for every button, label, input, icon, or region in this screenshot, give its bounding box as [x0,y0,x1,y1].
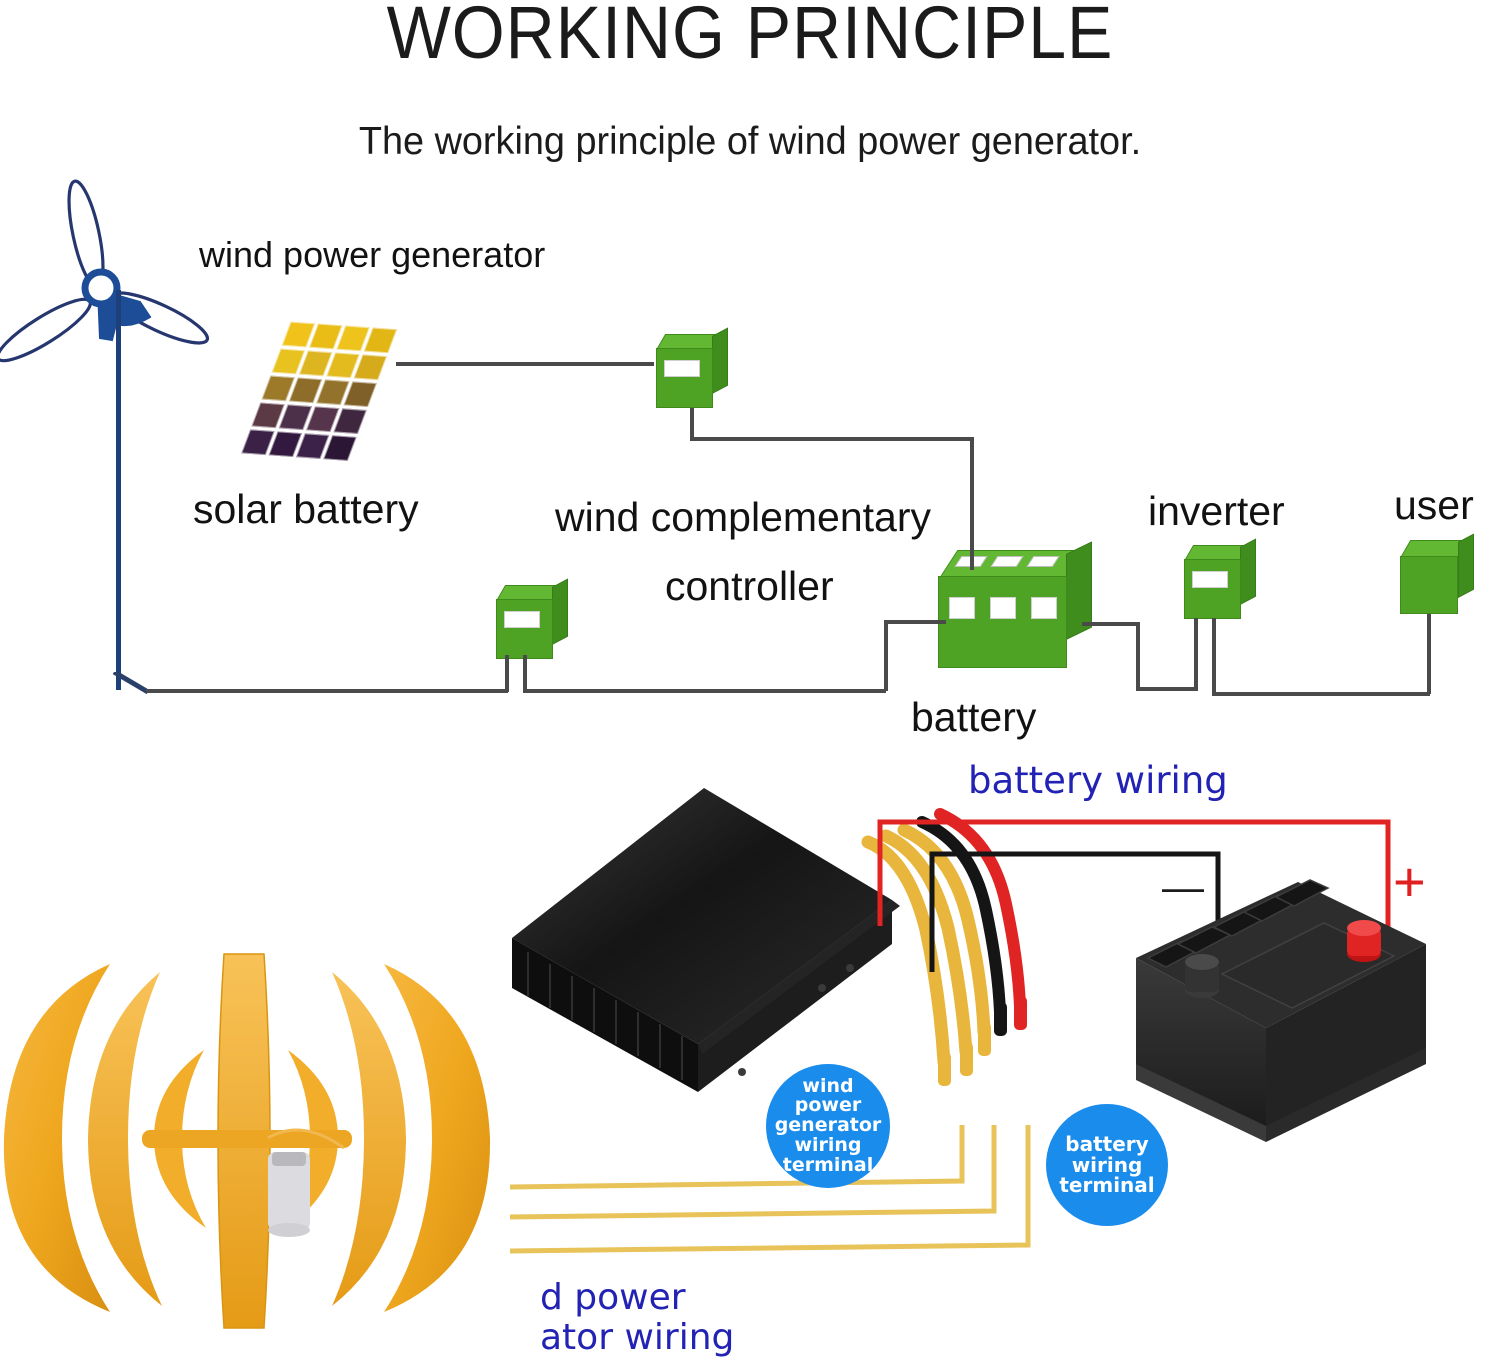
label-wind-complementary: wind complementary [555,496,931,539]
wire-controller-right [690,437,974,441]
callout-generator-terminal-text: wind power generator wiring terminal [775,1077,882,1176]
wire-inverter-drop [1136,622,1140,690]
green-box-icon-junction [488,585,570,663]
callout-battery-terminal-text: battery wiring terminal [1059,1134,1154,1196]
wire-user-drop [1427,614,1431,694]
vertical-axis-turbine-photo [0,938,497,1338]
wire-junction-down-a [505,655,509,692]
label-user: user [1394,484,1474,527]
label-generator-wiring: d power ator wiring [540,1278,734,1359]
wire-controller-to-battery [970,437,974,570]
negative-sign: — [1162,866,1204,908]
page-title: WORKING PRINCIPLE [60,0,1440,70]
car-battery-photo [1126,866,1436,1166]
label-battery-wiring: battery wiring [968,760,1228,801]
wire-controller-down [690,408,694,440]
callout-battery-terminal: battery wiring terminal [1046,1104,1168,1226]
label-inverter: inverter [1148,490,1285,533]
green-box-icon-controller [648,334,730,412]
wire-bus-into-battery [884,620,946,624]
turbine-pole [116,290,121,690]
label-controller: controller [665,565,834,608]
wire-junction-down-b [523,655,527,692]
positive-sign: + [1393,854,1426,910]
green-box-icon-inverter [1176,545,1258,623]
label-solar-battery: solar battery [193,488,419,531]
wire-bus-up-to-battery [884,620,888,691]
green-box-icon-user [1392,540,1474,618]
solar-panel-icon [236,322,417,476]
controller-box-photo [492,782,912,1112]
wire-inverter-bottom [1136,687,1198,691]
wire-bottom-bus [146,689,508,693]
wire-battery-to-inverter [1082,622,1140,626]
green-battery-icon [916,550,1096,670]
wire-inverter-to-user-down [1212,618,1216,695]
label-battery: battery [911,696,1036,739]
wire-solar-to-controller [396,362,654,366]
page-subtitle: The working principle of wind power gene… [23,122,1478,161]
wire-bottom-bus-right [523,689,886,693]
callout-generator-terminal: wind power generator wiring terminal [766,1064,890,1188]
label-wind-power-generator: wind power generator [199,236,545,274]
wire-inverter-to-user [1212,692,1430,696]
wire-inverter-up [1194,618,1198,690]
